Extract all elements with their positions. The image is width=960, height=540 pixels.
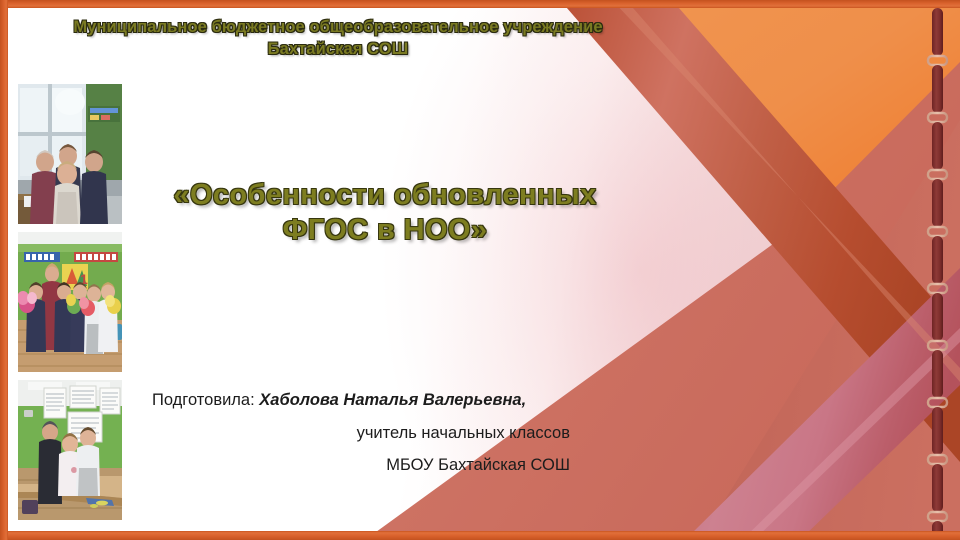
frame-left-strip [0,0,8,540]
photo-classroom-teacher-and-three-children-at-window [18,84,122,224]
institution-name-line-2: Бахтайская СОШ [28,39,648,61]
author-label: Подготовила: [152,391,255,409]
frame-bottom-strip [0,531,960,540]
institution-name-line-1: Муниципальное бюджетное общеобразователь… [28,17,648,39]
author-line-prepared-by: Подготовила: Хаболова Наталья Валерьевна… [152,392,580,409]
page-title-line-2: ФГОС в НОО» [140,213,630,248]
photo-group-of-pupils-with-flowers-in-green-classroom: 1 [18,232,122,372]
author-name: Хаболова Наталья Валерьевна, [259,391,526,409]
author-role: учитель начальных классов [152,425,580,442]
page-title: «Особенности обновленных ФГОС в НОО» [140,178,630,249]
author-organization: МБОУ Бахтайская СОШ [152,457,580,474]
page-title-line-1: «Особенности обновленных [140,178,630,213]
institution-name-heading: Муниципальное бюджетное общеобразователь… [28,17,648,61]
photo-column: 1 [18,84,122,520]
frame-top-strip [0,0,960,8]
author-credits: Подготовила: Хаболова Наталья Валерьевна… [152,392,580,474]
presentation-slide: Муниципальное бюджетное общеобразователь… [0,0,960,540]
photo-teacher-with-two-pupils-near-desks [18,380,122,520]
